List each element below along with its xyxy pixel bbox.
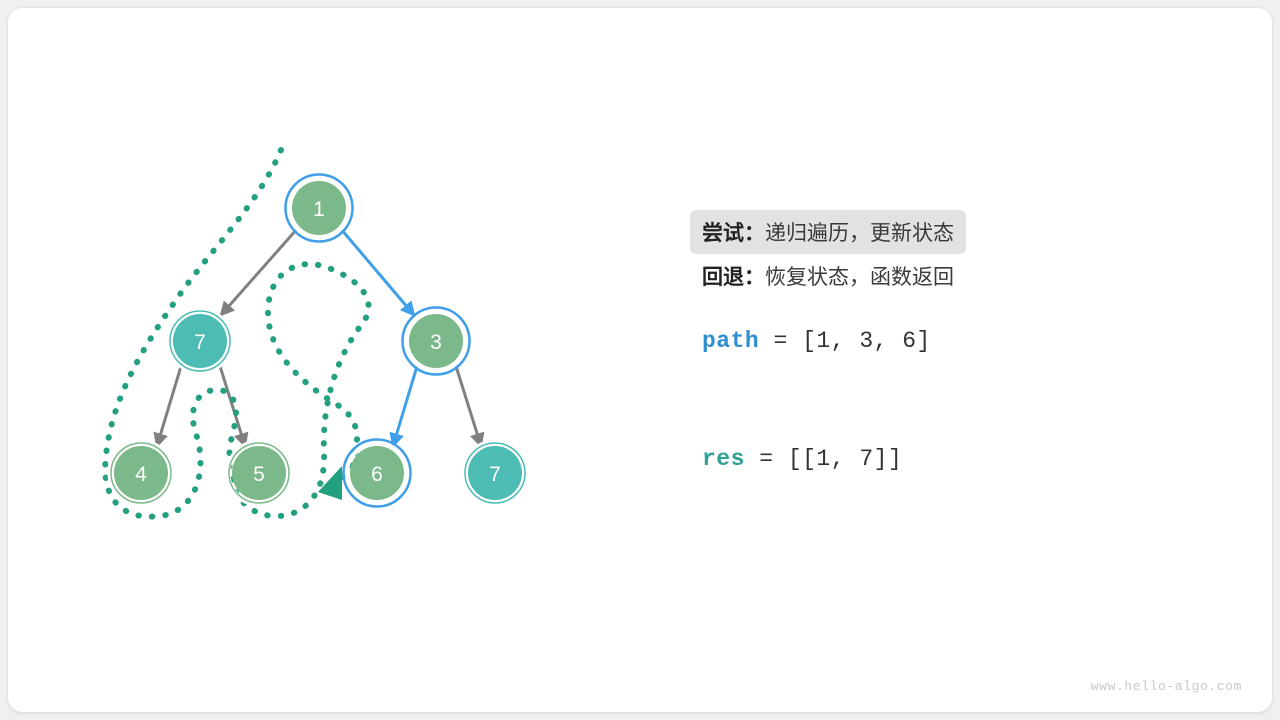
tree-node-4[interactable]: 4 xyxy=(110,442,172,504)
watermark-text: www.hello-algo.com xyxy=(1091,679,1242,694)
tree-nodes: 1 7 3 4 xyxy=(110,175,526,507)
path-variable-value: = [1, 3, 6] xyxy=(759,328,931,354)
tree-node-6[interactable]: 6 xyxy=(344,440,411,507)
legend-row-try: 尝试：递归遍历，更新状态 xyxy=(690,210,1110,254)
screenshot-root: 1 7 3 4 xyxy=(0,0,1280,720)
tree-node-3[interactable]: 3 xyxy=(403,308,470,375)
res-variable-name: res xyxy=(702,446,745,472)
edge-1-to-3 xyxy=(341,229,414,315)
edge-3-to-6 xyxy=(393,363,418,446)
res-state-line: res = [[1, 7]] xyxy=(702,446,902,472)
res-variable-value: = [[1, 7]] xyxy=(745,446,902,472)
tree-node-7-right-label: 7 xyxy=(489,463,501,486)
tree-node-5-label: 5 xyxy=(253,463,265,486)
edge-7l-to-4 xyxy=(157,363,182,446)
legend-backtrack-text: 回退：恢复状态，函数返回 xyxy=(690,254,966,298)
legend-panel: 尝试：递归遍历，更新状态 回退：恢复状态，函数返回 xyxy=(690,210,1110,298)
tree-node-1[interactable]: 1 xyxy=(286,175,353,242)
legend-try-text: 尝试：递归遍历，更新状态 xyxy=(690,210,966,254)
legend-backtrack-label: 回退： xyxy=(702,266,765,289)
legend-try-label: 尝试： xyxy=(702,222,765,245)
tree-node-7-right[interactable]: 7 xyxy=(464,442,526,504)
path-state-line: path = [1, 3, 6] xyxy=(702,328,931,354)
legend-try-desc: 递归遍历，更新状态 xyxy=(765,222,954,245)
tree-node-7-left-label: 7 xyxy=(194,331,206,354)
binary-tree-diagram: 1 7 3 4 xyxy=(0,0,1280,720)
tree-node-4-label: 4 xyxy=(135,463,147,486)
tree-node-7-left[interactable]: 7 xyxy=(169,310,231,372)
legend-backtrack-desc: 恢复状态，函数返回 xyxy=(765,266,954,289)
path-variable-name: path xyxy=(702,328,759,354)
edge-3-to-7r xyxy=(455,363,481,446)
legend-row-backtrack: 回退：恢复状态，函数返回 xyxy=(690,254,1110,298)
tree-node-3-label: 3 xyxy=(430,331,442,354)
edge-1-to-7l xyxy=(221,229,297,315)
edge-7l-to-5 xyxy=(219,363,245,446)
tree-node-1-label: 1 xyxy=(313,198,325,221)
tree-node-6-label: 6 xyxy=(371,463,383,486)
tree-node-5[interactable]: 5 xyxy=(228,442,290,504)
